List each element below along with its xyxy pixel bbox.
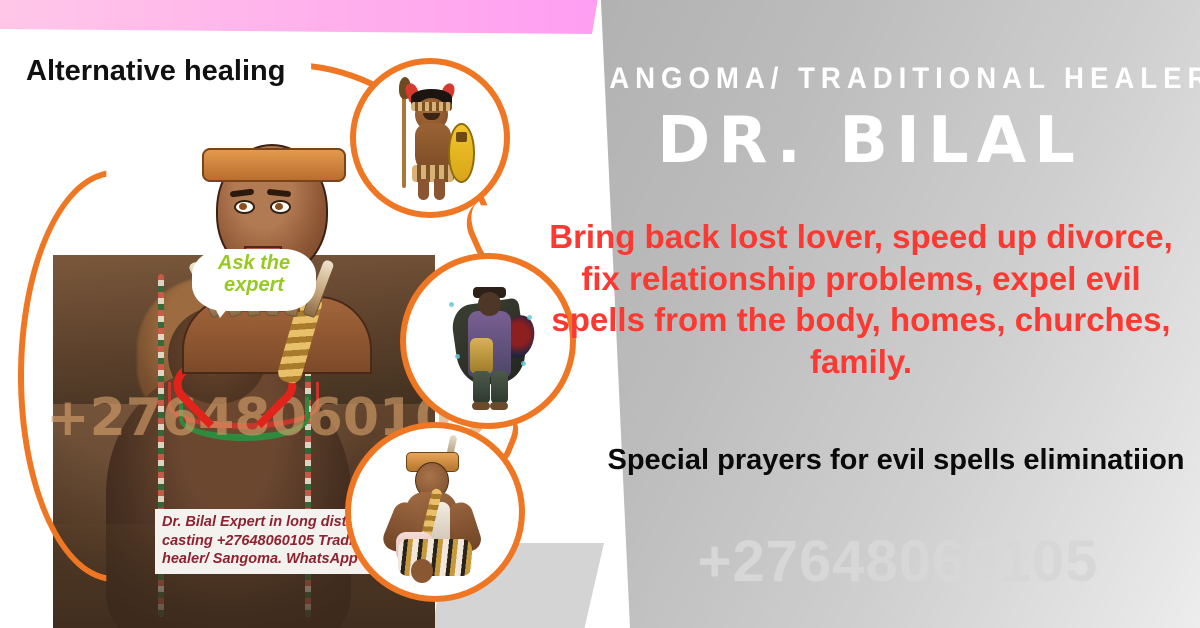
knee [411,559,433,583]
circle-zulu-warrior [350,58,510,218]
warrior-headband [411,102,452,111]
hero-pupil-right [275,203,283,210]
page-title: Alternative healing [26,55,285,88]
sparkle-icon [527,315,532,320]
trouser-right [491,371,507,404]
hero-pupil-left [239,203,247,210]
sparkle-icon [521,361,526,366]
warrior-leg-left [418,179,428,200]
healer-name: DR. BILAL [560,104,1180,178]
warrior-skirt [398,539,472,576]
circle-kneeling-warrior [345,422,525,602]
poster-canvas: +27648060105 Dr. Bilal Expert in long di… [0,0,1200,628]
special-prayers-text: Special prayers for evil spells eliminat… [606,442,1186,479]
sparkle-icon [449,302,454,307]
shield-icon [448,123,476,183]
warrior-leg-right [434,179,444,200]
left-artwork-area: +27648060105 Dr. Bilal Expert in long di… [0,0,600,628]
speech-bubble-label: Ask the expert [192,252,316,297]
kicker-text: SANGOMA/ TRADITIONAL HEALER [585,62,1155,96]
zulu-warrior-icon [356,64,504,212]
foot-left [472,402,490,410]
trouser-left [473,371,489,404]
medicine-sack [470,338,493,374]
kneeling-warrior-icon [351,428,519,596]
phone-watermark: +27648060105 [606,528,1190,595]
foot-right [490,402,508,410]
services-text: Bring back lost lover, speed up divorce,… [536,216,1186,382]
